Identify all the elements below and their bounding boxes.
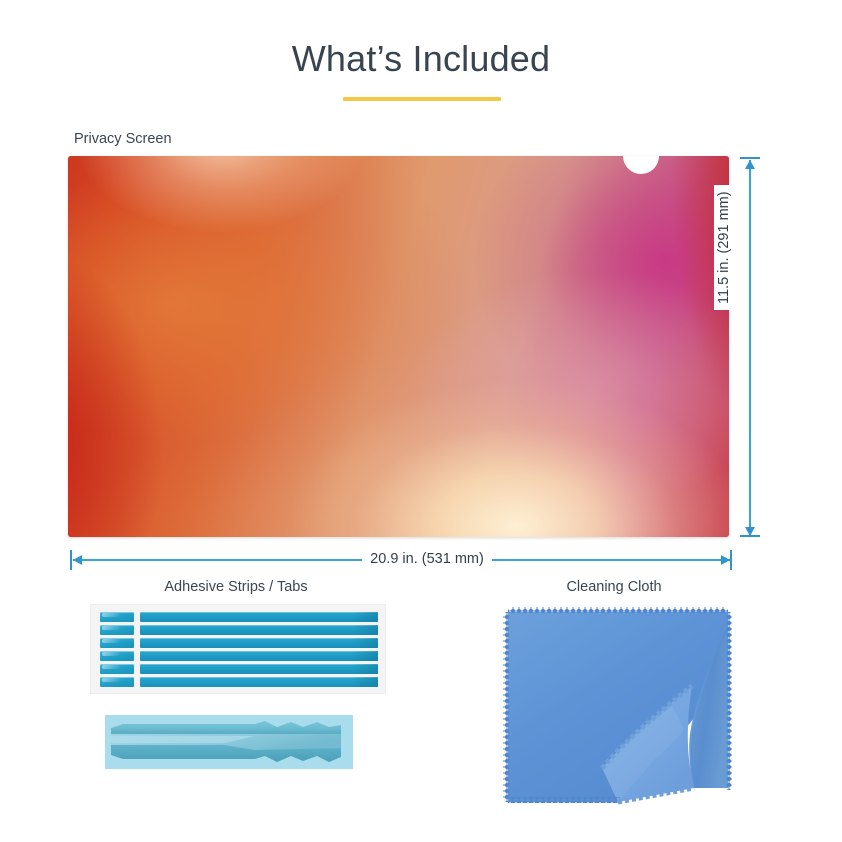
adhesive-strips-label: Adhesive Strips / Tabs (88, 579, 384, 595)
cleaning-cloth-figure (498, 602, 738, 808)
privacy-screen-label: Privacy Screen (74, 131, 172, 147)
whats-included-page: What’s Included Privacy Screen 11.5 in. … (0, 0, 842, 842)
adhesive-tab (100, 677, 134, 687)
adhesive-bar (140, 638, 378, 648)
adhesive-tab (100, 664, 134, 674)
dim-width-label: 20.9 in. (531 mm) (362, 551, 492, 567)
title-underline-rule (343, 97, 501, 101)
privacy-screen-figure (68, 156, 729, 537)
adhesive-tab (100, 612, 134, 622)
cleaning-cloth-graphic (498, 602, 738, 808)
adhesive-applicator-graphic (105, 715, 353, 769)
adhesive-tab (100, 638, 134, 648)
adhesive-strips-panel (90, 604, 386, 694)
cleaning-cloth-label: Cleaning Cloth (490, 579, 738, 595)
dim-height-label: 11.5 in. (291 mm) (714, 185, 734, 310)
privacy-screen-panel (68, 156, 729, 537)
dim-height-line (749, 160, 751, 536)
screen-gradient-deepred-right (68, 156, 729, 537)
adhesive-bar (140, 625, 378, 635)
dim-height-cap-bottom (740, 535, 760, 537)
adhesive-tab (100, 625, 134, 635)
page-title: What’s Included (0, 38, 842, 80)
dim-height-arrow-top (745, 160, 755, 169)
dim-height-cap-top (740, 157, 760, 159)
adhesive-tab (100, 651, 134, 661)
applicator-upper-band (111, 721, 341, 735)
adhesive-bar (140, 677, 378, 687)
adhesive-bar (140, 664, 378, 674)
adhesive-bar (140, 651, 378, 661)
dim-width-label-wrap: 20.9 in. (531 mm) (0, 551, 842, 567)
adhesive-bar (140, 612, 378, 622)
adhesive-applicator-panel (105, 715, 353, 769)
